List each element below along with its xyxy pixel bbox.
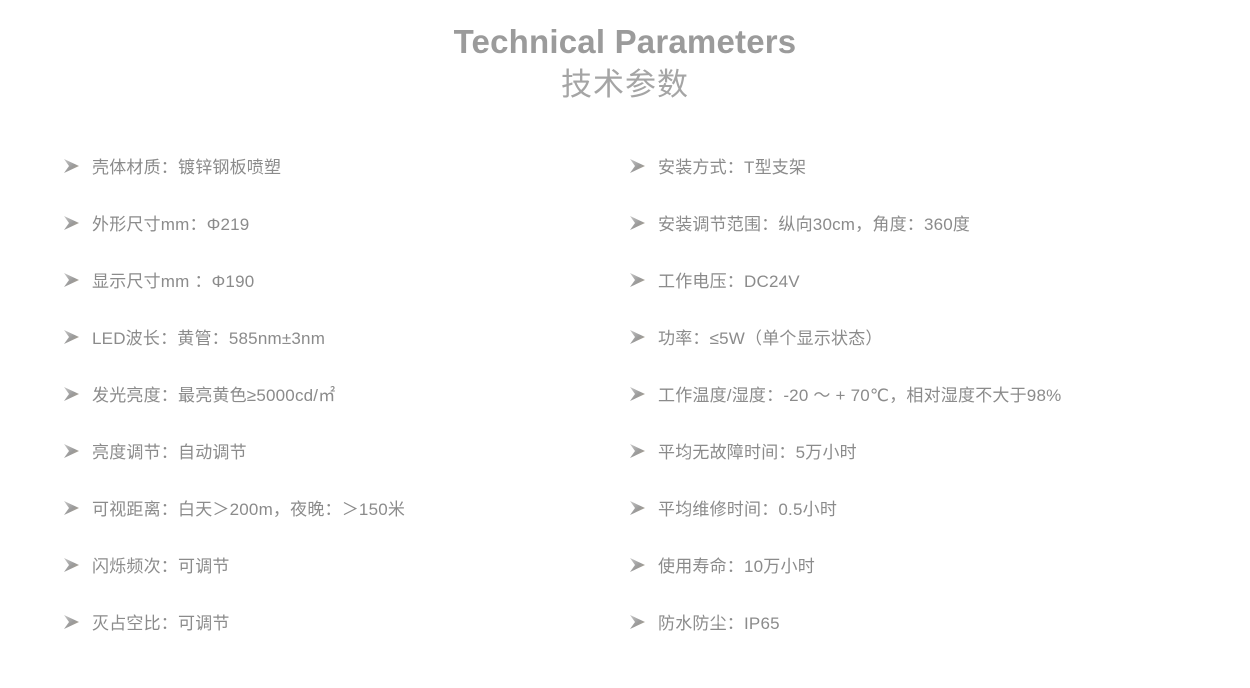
arrowhead-bullet-icon (62, 215, 92, 235)
arrowhead-bullet-icon (628, 500, 658, 520)
spec-text: 灭占空比：可调节 (92, 611, 620, 637)
arrowhead-bullet-icon (628, 158, 658, 178)
arrowhead-bullet-icon (62, 272, 92, 292)
spec-row: 壳体材质：镀锌钢板喷塑 (62, 155, 620, 212)
spec-row: LED波长：黄管：585nm±3nm (62, 326, 620, 383)
spec-text: 功率：≤5W（单个显示状态） (658, 326, 1250, 352)
arrowhead-bullet-icon (62, 614, 92, 634)
spec-text: 壳体材质：镀锌钢板喷塑 (92, 155, 620, 181)
spec-text: 亮度调节：自动调节 (92, 440, 620, 466)
spec-row: 平均无故障时间：5万小时 (628, 440, 1250, 497)
arrowhead-bullet-icon (62, 329, 92, 349)
spec-text: 平均维修时间：0.5小时 (658, 497, 1250, 523)
arrowhead-bullet-icon (62, 500, 92, 520)
spec-row: 工作温度/湿度：-20 ～ + 70℃，相对湿度不大于98% (628, 383, 1250, 440)
spec-text: 工作温度/湿度：-20 ～ + 70℃，相对湿度不大于98% (658, 383, 1250, 409)
arrowhead-bullet-icon (628, 215, 658, 235)
spec-text: 外形尺寸mm：Φ219 (92, 212, 620, 238)
spec-text: 使用寿命：10万小时 (658, 554, 1250, 580)
spec-row: 发光亮度：最亮黄色≥5000cd/㎡ (62, 383, 620, 440)
spec-row: 工作电压：DC24V (628, 269, 1250, 326)
spec-row: 灭占空比：可调节 (62, 611, 620, 668)
spec-row: 平均维修时间：0.5小时 (628, 497, 1250, 554)
arrowhead-bullet-icon (628, 443, 658, 463)
spec-text: 显示尺寸mm ：Φ190 (92, 269, 620, 295)
spec-column-right: 安装方式：T型支架 安装调节范围：纵向30cm，角度：360度 (620, 155, 1250, 668)
arrowhead-bullet-icon (62, 557, 92, 577)
arrowhead-bullet-icon (628, 557, 658, 577)
spec-row: 显示尺寸mm ：Φ190 (62, 269, 620, 326)
spec-text: 防水防尘：IP65 (658, 611, 1250, 637)
page-title-english: Technical Parameters (0, 20, 1250, 64)
arrowhead-bullet-icon (628, 386, 658, 406)
spec-row: 外形尺寸mm：Φ219 (62, 212, 620, 269)
spec-row: 亮度调节：自动调节 (62, 440, 620, 497)
page-title-chinese: 技术参数 (0, 64, 1250, 106)
spec-row: 安装方式：T型支架 (628, 155, 1250, 212)
spec-text: 发光亮度：最亮黄色≥5000cd/㎡ (92, 383, 620, 409)
spec-row: 使用寿命：10万小时 (628, 554, 1250, 611)
spec-text: 闪烁频次：可调节 (92, 554, 620, 580)
arrowhead-bullet-icon (62, 443, 92, 463)
arrowhead-bullet-icon (62, 158, 92, 178)
arrowhead-bullet-icon (628, 614, 658, 634)
arrowhead-bullet-icon (628, 272, 658, 292)
arrowhead-bullet-icon (62, 386, 92, 406)
spec-row: 防水防尘：IP65 (628, 611, 1250, 668)
spec-row: 闪烁频次：可调节 (62, 554, 620, 611)
technical-parameters-page: Technical Parameters 技术参数 壳体材质：镀锌钢板喷塑 (0, 0, 1250, 688)
spec-text: 安装调节范围：纵向30cm，角度：360度 (658, 212, 1250, 238)
spec-text: 工作电压：DC24V (658, 269, 1250, 295)
page-header: Technical Parameters 技术参数 (0, 0, 1250, 106)
arrowhead-bullet-icon (628, 329, 658, 349)
spec-text: 安装方式：T型支架 (658, 155, 1250, 181)
spec-row: 安装调节范围：纵向30cm，角度：360度 (628, 212, 1250, 269)
spec-text: 平均无故障时间：5万小时 (658, 440, 1250, 466)
spec-text: 可视距离：白天＞200m，夜晚：＞150米 (92, 497, 620, 523)
spec-row: 功率：≤5W（单个显示状态） (628, 326, 1250, 383)
specifications-container: 壳体材质：镀锌钢板喷塑 外形尺寸mm：Φ219 (0, 155, 1250, 668)
spec-text: LED波长：黄管：585nm±3nm (92, 326, 620, 352)
spec-column-left: 壳体材质：镀锌钢板喷塑 外形尺寸mm：Φ219 (0, 155, 620, 668)
spec-row: 可视距离：白天＞200m，夜晚：＞150米 (62, 497, 620, 554)
